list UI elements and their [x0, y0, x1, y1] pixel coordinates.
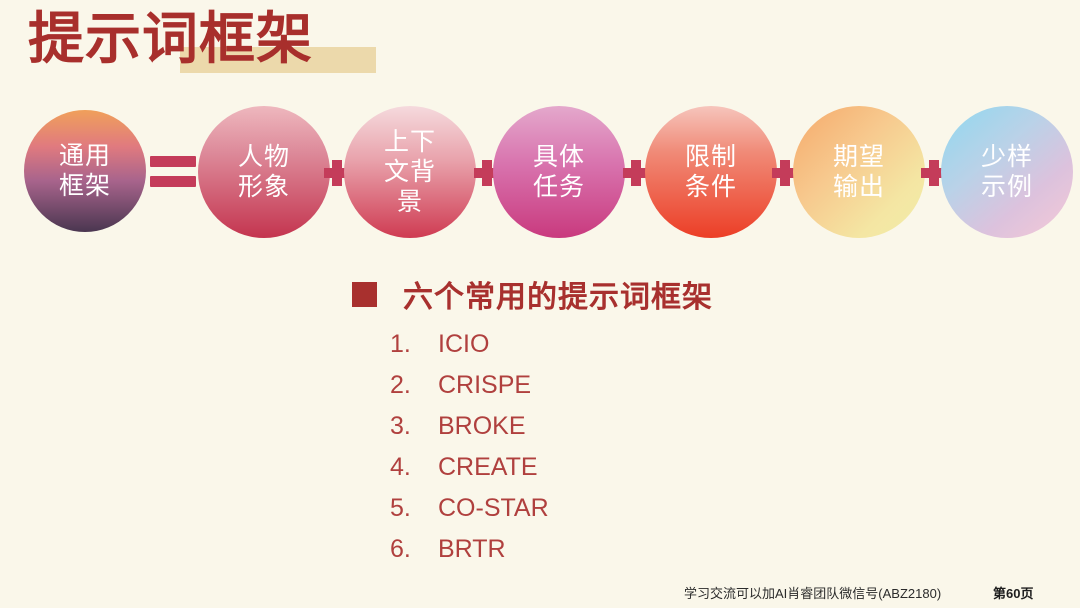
list-item: 1. ICIO	[352, 330, 713, 371]
page-title-area: 提示词框架	[28, 6, 313, 78]
list-item-number: 2.	[352, 371, 434, 400]
list-item: 5. CO-STAR	[352, 494, 713, 535]
list-item-number: 1.	[352, 330, 434, 359]
list-item: 6. BRTR	[352, 535, 713, 576]
framework-list: 1. ICIO 2. CRISPE 3. BROKE 4. CREATE 5. …	[352, 330, 713, 576]
page-number: 第60页	[993, 583, 1033, 602]
flow-node-general-framework[interactable]: 通用 框架	[24, 110, 146, 232]
flow-node-label: 上下 文背 景	[384, 127, 436, 217]
flow-node-label: 通用 框架	[59, 141, 111, 201]
page-title: 提示词框架	[28, 6, 313, 72]
list-item: 3. BROKE	[352, 412, 713, 453]
list-item-label: CREATE	[434, 453, 538, 482]
flow-node-context[interactable]: 上下 文背 景	[344, 106, 476, 238]
list-item: 2. CRISPE	[352, 371, 713, 412]
flow-node-label: 少样 示例	[981, 142, 1033, 202]
list-item-label: CRISPE	[434, 371, 531, 400]
list-item-number: 4.	[352, 453, 434, 482]
flow-node-task[interactable]: 具体 任务	[493, 106, 625, 238]
flow-node-persona[interactable]: 人物 形象	[198, 106, 330, 238]
list-item-label: BRTR	[434, 535, 506, 564]
flow-node-label: 具体 任务	[533, 142, 585, 202]
square-bullet-icon	[352, 282, 377, 307]
list-item: 4. CREATE	[352, 453, 713, 494]
list-item-number: 6.	[352, 535, 434, 564]
footer-note: 学习交流可以加AI肖睿团队微信号(ABZ2180)	[684, 583, 941, 602]
list-item-label: BROKE	[434, 412, 526, 441]
flow-node-label: 限制 条件	[685, 142, 737, 202]
framework-flow-diagram: 通用 框架 人物 形象 上下 文背 景 具体 任务 限制 条件 期望 输出 少样…	[0, 104, 1080, 244]
list-item-number: 3.	[352, 412, 434, 441]
flow-node-label: 期望 输出	[833, 142, 885, 202]
list-item-number: 5.	[352, 494, 434, 523]
flow-node-constraints[interactable]: 限制 条件	[645, 106, 777, 238]
flow-node-few-shot-examples[interactable]: 少样 示例	[941, 106, 1073, 238]
list-item-label: CO-STAR	[434, 494, 549, 523]
section-heading-text: 六个常用的提示词框架	[403, 272, 713, 316]
flow-node-label: 人物 形象	[238, 142, 290, 202]
content-block: 六个常用的提示词框架 1. ICIO 2. CRISPE 3. BROKE 4.…	[352, 272, 713, 576]
list-item-label: ICIO	[434, 330, 489, 359]
flow-node-expected-output[interactable]: 期望 输出	[793, 106, 925, 238]
section-heading: 六个常用的提示词框架	[352, 272, 713, 316]
equals-operator	[150, 156, 196, 192]
